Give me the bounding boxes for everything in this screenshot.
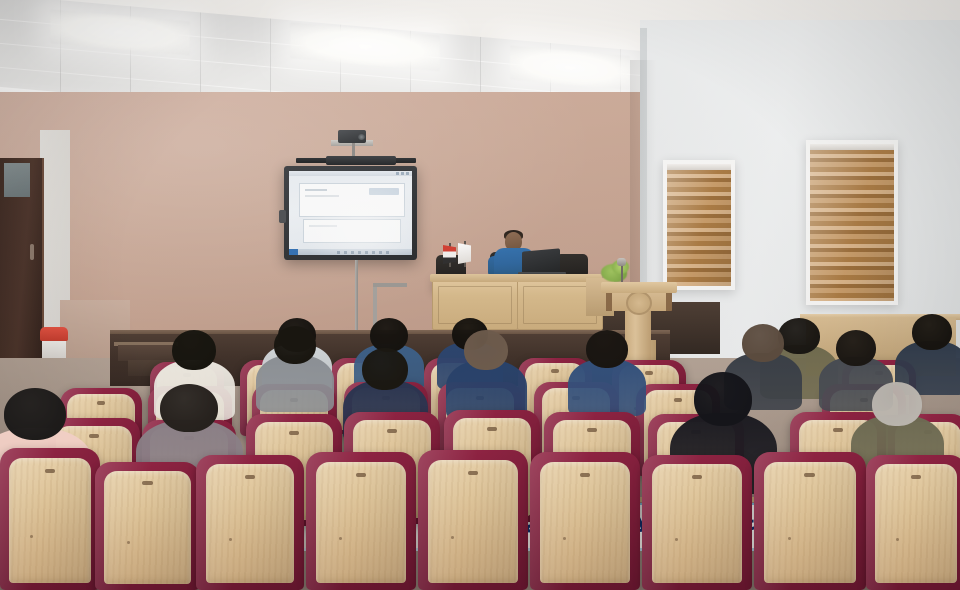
attendee-grey-jacket-head <box>274 326 316 364</box>
attendee-blue-shirt-head <box>370 318 408 352</box>
seat-highlight <box>196 455 304 590</box>
seat-highlight <box>642 455 752 590</box>
cleric-black-turban-head <box>694 372 752 426</box>
seat-highlight <box>306 452 416 590</box>
podium-emblem <box>626 291 652 315</box>
whiteboard-stand-pole <box>355 260 358 338</box>
window-blind[interactable] <box>667 164 731 286</box>
door-window-pane <box>4 163 30 197</box>
blind-gloss <box>810 144 894 301</box>
seat-highlight <box>0 448 100 590</box>
podium-lectern-top <box>601 282 677 293</box>
trash-bin <box>40 327 68 362</box>
auditorium-seat[interactable] <box>418 450 528 590</box>
seat-highlight <box>754 452 866 590</box>
podium-column <box>625 310 651 365</box>
door-handle[interactable] <box>30 244 34 260</box>
blind-headrail <box>667 164 731 170</box>
photograph-canvas: قسم الإعلام والعلاقات العامة وارث الأنبي… <box>0 0 960 590</box>
whiteboard-pen-holder <box>279 210 286 223</box>
auditorium-seat[interactable] <box>754 452 866 590</box>
podium-microphone <box>617 258 626 266</box>
attendee-headscarf-pink-head <box>4 388 66 440</box>
auditorium-seat[interactable] <box>306 452 416 590</box>
trash-bin-lid <box>40 327 68 341</box>
ceiling-panel-light <box>510 45 630 89</box>
window-left-blind <box>663 160 735 290</box>
auditorium-seat[interactable] <box>530 452 640 590</box>
attendee-patterned-scarf-head <box>160 384 218 432</box>
seat-highlight <box>866 455 960 590</box>
blind-gloss <box>667 164 731 286</box>
iraq-flag <box>443 245 456 264</box>
stage-step-upper <box>118 345 176 361</box>
white-flag <box>458 243 471 264</box>
auditorium-seat[interactable] <box>0 448 100 590</box>
attendee-bald-center-head <box>464 330 508 370</box>
whiteboard-stand-foot <box>373 283 407 287</box>
seat-highlight <box>530 452 640 590</box>
projector-lens <box>358 134 365 140</box>
attendee-right-dark-head <box>836 330 876 366</box>
presidium-table-top <box>430 274 602 282</box>
attendee-row3-center-head <box>586 330 628 368</box>
blind-headrail <box>810 144 894 150</box>
seat-highlight <box>418 450 528 590</box>
window-right-blind <box>806 140 898 305</box>
auditorium-seat[interactable] <box>866 455 960 590</box>
seat-highlight <box>95 462 200 590</box>
projector-arm <box>352 143 355 157</box>
screen-glare <box>289 171 412 255</box>
window-blind[interactable] <box>810 144 894 301</box>
auditorium-seat[interactable] <box>196 455 304 590</box>
attendee-bald-right-head <box>742 324 784 362</box>
soundbar-speaker <box>326 156 396 165</box>
auditorium-seat[interactable] <box>95 462 200 590</box>
attendee-far-right-head <box>912 314 952 350</box>
attendee-front-left-head <box>172 330 216 370</box>
attendee-navy-suit-head <box>362 348 408 390</box>
auditorium-seat[interactable] <box>642 455 752 590</box>
attendee-grey-hair-head <box>872 382 922 426</box>
attendee-olive-jacket-head <box>778 318 820 354</box>
whiteboard-screen[interactable] <box>289 171 412 255</box>
